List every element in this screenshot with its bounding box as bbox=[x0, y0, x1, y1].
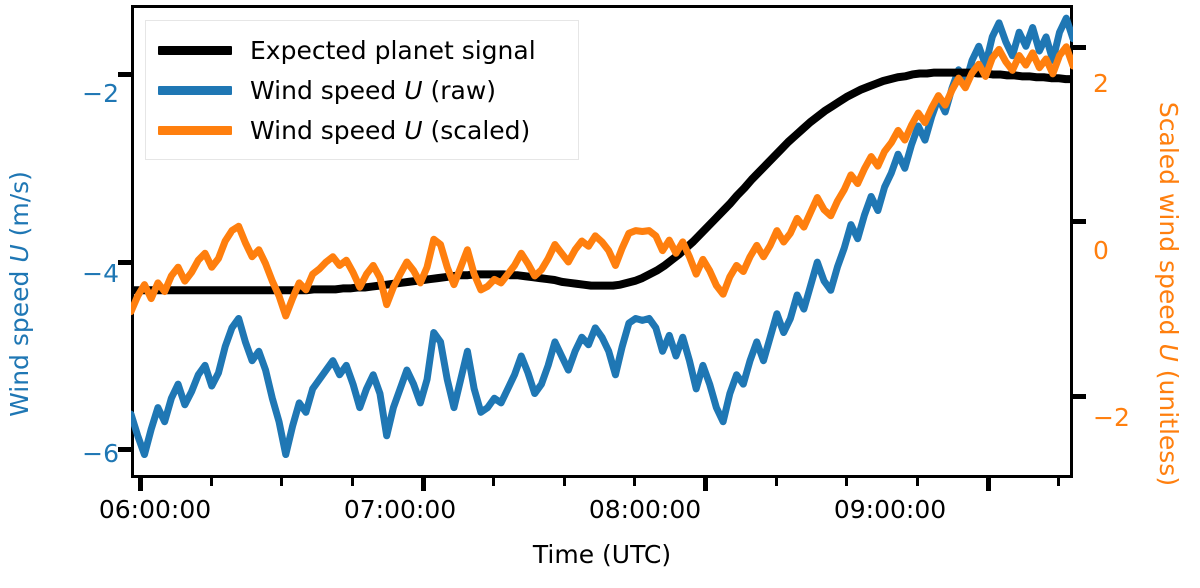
y-tick-label-left-1: −4 bbox=[82, 259, 119, 288]
x-tick-label-1: 07:00:00 bbox=[300, 495, 500, 524]
legend-label-raw: Wind speed U (raw) bbox=[250, 76, 496, 105]
y-tick-label-right-0: 2 bbox=[1093, 69, 1109, 98]
x-tick-minor-150 bbox=[845, 478, 848, 486]
legend-label-expected-planet-signal: Expected planet signal bbox=[250, 36, 536, 65]
y-tick-label-right-2: −2 bbox=[1093, 403, 1130, 432]
x-tick-minor-15 bbox=[210, 478, 213, 486]
legend-swatch-expected-planet-signal bbox=[158, 46, 232, 55]
y-tick-left--4 bbox=[118, 260, 131, 265]
legend-item-scaled: Wind speed U (scaled) bbox=[158, 110, 566, 150]
y-tick-left--6 bbox=[118, 447, 131, 452]
x-tick-minor-75 bbox=[492, 478, 495, 486]
x-tick-major-0 bbox=[138, 478, 143, 491]
x-tick-major-60 bbox=[421, 478, 426, 491]
legend-swatch-scaled bbox=[158, 126, 232, 135]
x-tick-major-180 bbox=[986, 478, 991, 491]
x-tick-label-0: 06:00:00 bbox=[55, 495, 255, 524]
y-tick-label-right-1: 0 bbox=[1093, 236, 1109, 265]
x-tick-minor-90 bbox=[563, 478, 566, 486]
x-axis-label: Time (UTC) bbox=[131, 540, 1073, 569]
y-tick-label-left-0: −2 bbox=[82, 79, 119, 108]
y-tick-right--2 bbox=[1073, 394, 1086, 399]
legend-swatch-raw bbox=[158, 86, 232, 95]
y-tick-label-left-2: −6 bbox=[82, 439, 119, 468]
legend-item-raw: Wind speed U (raw) bbox=[158, 70, 566, 110]
figure-canvas: Wind speed U (m/s) Scaled wind speed U (… bbox=[0, 0, 1200, 588]
y-axis-left-label: Wind speed U (m/s) bbox=[0, 0, 40, 588]
legend-label-scaled: Wind speed U (scaled) bbox=[250, 116, 530, 145]
x-tick-major-120 bbox=[703, 478, 708, 491]
legend-item-expected-planet-signal: Expected planet signal bbox=[158, 30, 566, 70]
y-tick-right-0 bbox=[1073, 219, 1086, 224]
x-tick-minor-195 bbox=[1057, 478, 1060, 486]
x-tick-minor-30 bbox=[280, 478, 283, 486]
x-tick-minor-135 bbox=[775, 478, 778, 486]
x-tick-minor-45 bbox=[351, 478, 354, 486]
x-tick-label-2: 08:00:00 bbox=[545, 495, 745, 524]
y-axis-right-label: Scaled wind speed U (unitless) bbox=[1148, 0, 1188, 588]
x-tick-label-3: 09:00:00 bbox=[790, 495, 990, 524]
y-tick-right-2 bbox=[1073, 45, 1086, 50]
y-tick-left--2 bbox=[118, 72, 131, 77]
y-axis-right-label-text: Scaled wind speed U (unitless) bbox=[1154, 102, 1183, 486]
x-tick-minor-105 bbox=[633, 478, 636, 486]
legend-box: Expected planet signal Wind speed U (raw… bbox=[145, 20, 579, 160]
x-tick-minor-165 bbox=[916, 478, 919, 486]
y-axis-left-label-text: Wind speed U (m/s) bbox=[5, 171, 34, 417]
